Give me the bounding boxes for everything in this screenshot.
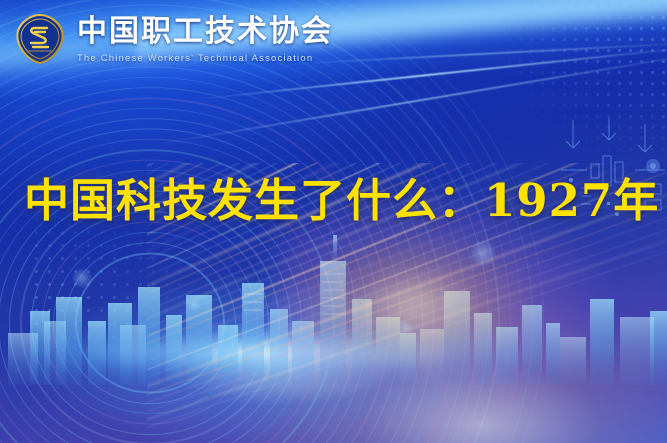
light-arc [0, 118, 368, 443]
light-arc [0, 108, 379, 443]
light-arc [0, 46, 445, 443]
bokeh-dot [188, 298, 201, 311]
light-arc [75, 253, 225, 394]
banner-header: 中国职工技术协会 The Chinese Workers' Technical … [0, 0, 333, 78]
bokeh-dot [72, 268, 92, 288]
bokeh-dot [470, 240, 496, 266]
light-arc [0, 97, 390, 443]
light-arc [0, 87, 401, 443]
light-ray [147, 197, 667, 443]
city-skyline-silhouette [0, 225, 667, 385]
organization-name-en: The Chinese Workers' Technical Associati… [77, 53, 333, 62]
horizon-glow [53, 325, 533, 371]
light-arc [0, 56, 434, 443]
association-emblem-icon [14, 12, 66, 66]
light-arc [20, 201, 280, 443]
light-arc [9, 190, 291, 443]
light-arc [42, 221, 258, 424]
organization-name-cn: 中国职工技术协会 [77, 16, 333, 47]
light-arc [0, 66, 423, 443]
light-arc [0, 25, 467, 443]
tech-banner: 中国职工技术协会 The Chinese Workers' Technical … [0, 0, 667, 443]
light-arc [0, 77, 412, 443]
light-arc [53, 232, 247, 414]
bokeh-dot [398, 320, 413, 335]
brand-text: 中国职工技术协会 The Chinese Workers' Technical … [77, 16, 333, 63]
light-arc [0, 15, 478, 443]
light-arc [64, 242, 236, 404]
halftone-dot-pattern-left [30, 200, 220, 390]
light-arc [0, 35, 456, 443]
light-arc [31, 211, 269, 435]
page-title: 中国科技发生了什么：1927年 [24, 176, 659, 226]
